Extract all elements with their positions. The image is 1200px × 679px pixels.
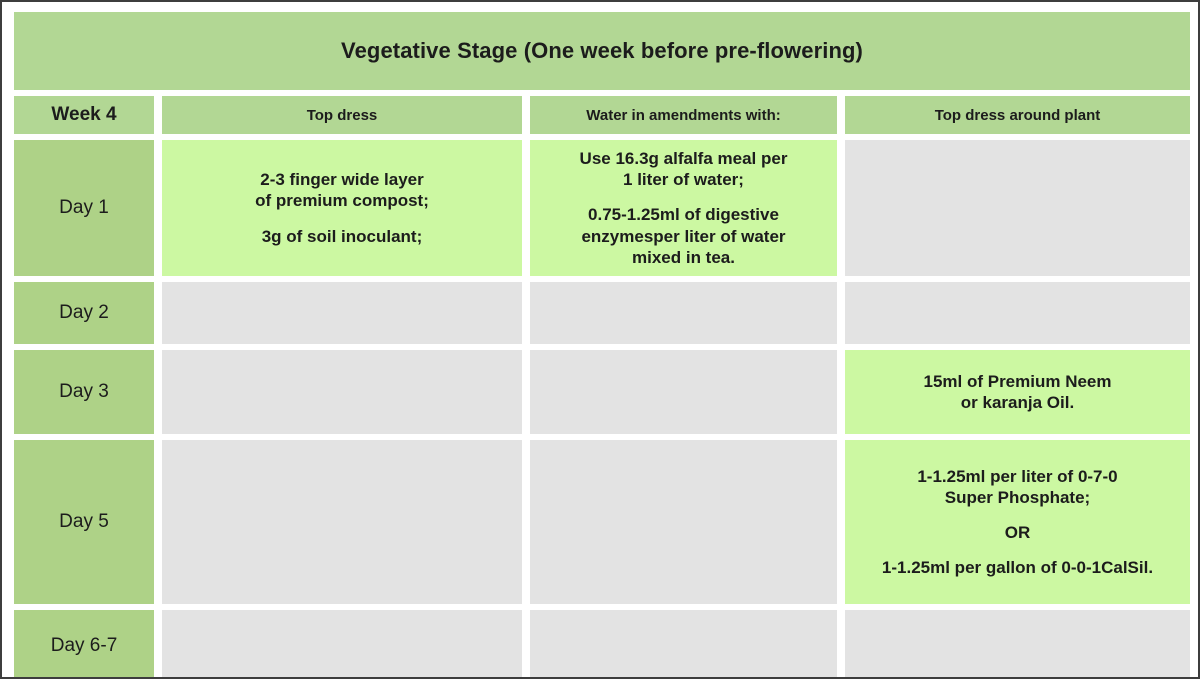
column-header-top-dress-around-plant: Top dress around plant (845, 96, 1190, 134)
cell-day-5-water-in (530, 440, 837, 604)
table-title: Vegetative Stage (One week before pre-fl… (14, 12, 1190, 90)
column-header-week: Week 4 (14, 96, 154, 134)
cell-text-line: of premium compost; (255, 190, 429, 211)
cell-text-line: OR (882, 522, 1153, 543)
cell-paragraph: Use 16.3g alfalfa meal per1 liter of wat… (580, 148, 788, 191)
cell-paragraph: 3g of soil inoculant; (255, 226, 429, 247)
table-row: Day 5 1-1.25ml per liter of 0-7-0Super P… (10, 440, 1194, 604)
table-row: Day 3 15ml of Premium Neemor karanja Oil… (10, 350, 1194, 434)
cell-text-line: 2-3 finger wide layer (255, 169, 429, 190)
cell-day-2-top-dress-around (845, 282, 1190, 344)
row-label-day-6-7: Day 6-7 (14, 610, 154, 679)
cell-text-line: 1-1.25ml per liter of 0-7-0 (882, 466, 1153, 487)
cell-day-3-top-dress (162, 350, 522, 434)
schedule-table-page: Vegetative Stage (One week before pre-fl… (0, 0, 1200, 679)
cell-text-line: or karanja Oil. (923, 392, 1111, 413)
cell-day-6-7-water-in (530, 610, 837, 679)
cell-text-line: enzymesper liter of water (580, 226, 788, 247)
cell-text-line: 15ml of Premium Neem (923, 371, 1111, 392)
cell-text-line: 1 liter of water; (580, 169, 788, 190)
column-header-water-in-amendments: Water in amendments with: (530, 96, 837, 134)
cell-day-3-water-in (530, 350, 837, 434)
table-row: Day 6-7 (10, 610, 1194, 679)
cell-day-3-top-dress-around: 15ml of Premium Neemor karanja Oil. (845, 350, 1190, 434)
table-row: Day 2 (10, 282, 1194, 344)
cell-day-6-7-top-dress-around (845, 610, 1190, 679)
cell-day-1-water-in: Use 16.3g alfalfa meal per1 liter of wat… (530, 140, 837, 276)
row-label-day-3: Day 3 (14, 350, 154, 434)
schedule-table: Vegetative Stage (One week before pre-fl… (10, 10, 1194, 673)
cell-day-5-top-dress-around: 1-1.25ml per liter of 0-7-0Super Phospha… (845, 440, 1190, 604)
cell-day-2-water-in (530, 282, 837, 344)
cell-paragraph: 1-1.25ml per liter of 0-7-0Super Phospha… (882, 466, 1153, 509)
row-label-day-2: Day 2 (14, 282, 154, 344)
cell-paragraph: 0.75-1.25ml of digestiveenzymesper liter… (580, 204, 788, 268)
cell-text-line: Super Phosphate; (882, 487, 1153, 508)
cell-text-line: Use 16.3g alfalfa meal per (580, 148, 788, 169)
column-header-row: Week 4 Top dress Water in amendments wit… (10, 96, 1194, 134)
cell-day-1-top-dress: 2-3 finger wide layerof premium compost;… (162, 140, 522, 276)
cell-paragraph: 2-3 finger wide layerof premium compost; (255, 169, 429, 212)
table-row: Day 1 2-3 finger wide layerof premium co… (10, 140, 1194, 276)
row-label-day-1: Day 1 (14, 140, 154, 276)
cell-text-line: mixed in tea. (580, 247, 788, 268)
cell-paragraph: 1-1.25ml per gallon of 0-0-1CalSil. (882, 557, 1153, 578)
cell-day-1-top-dress-around (845, 140, 1190, 276)
cell-text-line: 0.75-1.25ml of digestive (580, 204, 788, 225)
cell-day-2-top-dress (162, 282, 522, 344)
cell-text-line: 3g of soil inoculant; (255, 226, 429, 247)
cell-paragraph: 15ml of Premium Neemor karanja Oil. (923, 371, 1111, 414)
cell-text-line: 1-1.25ml per gallon of 0-0-1CalSil. (882, 557, 1153, 578)
cell-paragraph: OR (882, 522, 1153, 543)
cell-day-6-7-top-dress (162, 610, 522, 679)
cell-day-5-top-dress (162, 440, 522, 604)
row-label-day-5: Day 5 (14, 440, 154, 604)
column-header-top-dress: Top dress (162, 96, 522, 134)
